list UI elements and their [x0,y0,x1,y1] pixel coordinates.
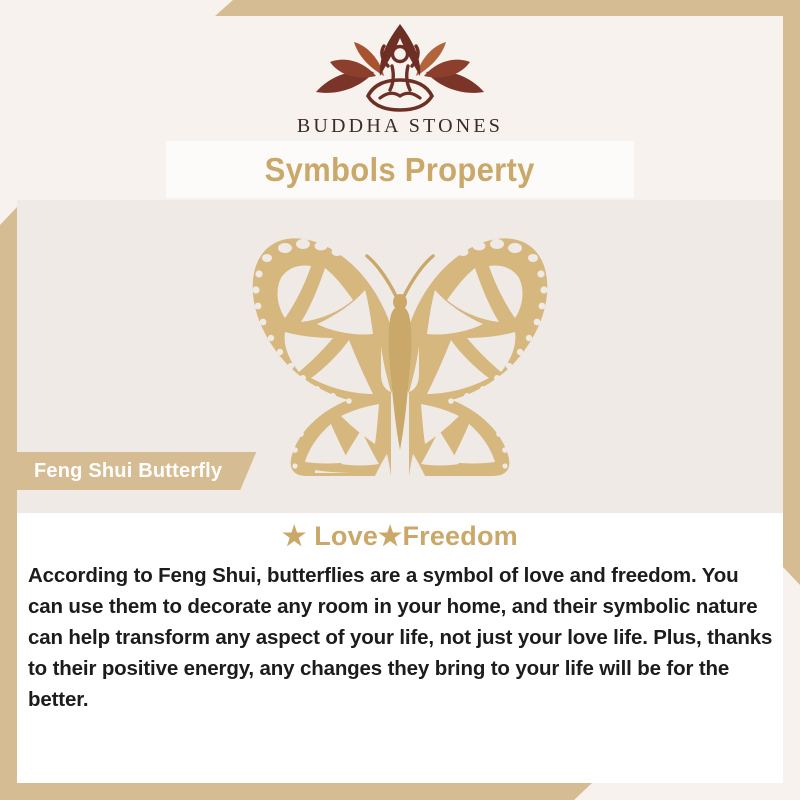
brand-wordmark: BUDDHA STONES [0,115,800,138]
category-banner: Feng Shui Butterfly [17,452,256,490]
lotus-meditation-icon [300,18,500,118]
frame-top-edge [215,0,800,16]
category-banner-label: Feng Shui Butterfly [34,460,222,483]
description-paragraph: According to Feng Shui, butterflies are … [28,560,775,716]
brand-header: BUDDHA STONES [0,18,800,138]
page-title-plate: Symbols Property [166,141,634,198]
page-title: Symbols Property [265,151,535,189]
poster-root: BUDDHA STONES Symbols Property [0,0,800,800]
frame-left-edge [0,207,17,783]
frame-bottom-edge [0,783,592,800]
description-card: ★ Love★Freedom According to Feng Shui, b… [17,513,783,783]
tagline: ★ Love★Freedom [17,522,783,552]
butterfly-icon [215,214,585,476]
